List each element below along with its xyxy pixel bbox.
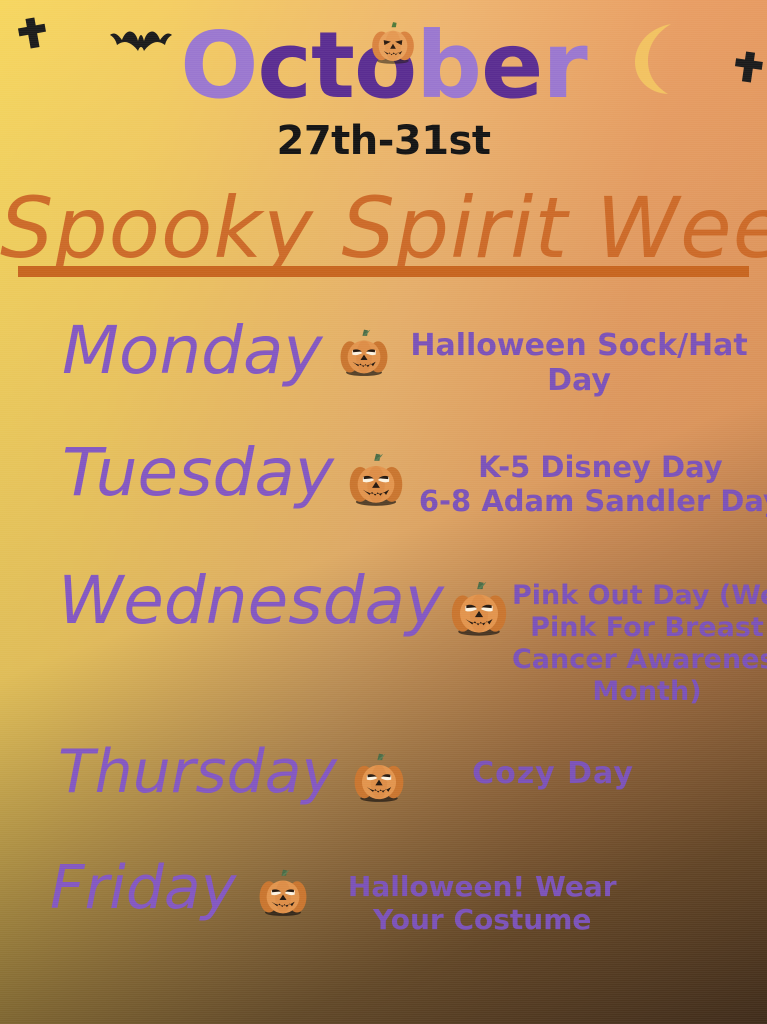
day-description-line: Halloween Sock/Hat	[407, 328, 752, 363]
day-description-line: Month)	[512, 676, 767, 708]
poster-header: October	[0, 0, 767, 180]
day-description-line: Cancer Awareness	[512, 644, 767, 676]
bat-icon	[110, 28, 172, 54]
cross-icon	[742, 52, 755, 83]
pumpkin-icon	[450, 580, 508, 638]
cross-icon	[25, 17, 39, 48]
day-description-tuesday: K-5 Disney Day6-8 Adam Sandler Day	[418, 418, 767, 518]
month-letter-6: r	[542, 16, 586, 116]
spirit-week-poster: October	[0, 0, 767, 1024]
day-description-friday: Halloween! WearYour Costume	[332, 848, 632, 936]
day-description-line: Day	[407, 363, 752, 398]
day-row-monday: MondayHalloween Sock/HatDay	[0, 300, 767, 418]
month-title-wrap: October	[0, 16, 767, 126]
day-description-line: Pink For Breast	[512, 612, 767, 644]
day-description-line: Halloween! Wear	[332, 870, 632, 903]
day-description-line: Cozy Day	[433, 756, 673, 791]
day-description-line: K-5 Disney Day	[418, 450, 767, 484]
pumpkin-icon	[348, 452, 404, 508]
pumpkin-icon	[339, 328, 389, 378]
day-list: MondayHalloween Sock/HatDayTuesdayK-5 Di…	[0, 300, 767, 968]
day-row-thursday: ThursdayCozy Day	[0, 730, 767, 848]
month-letter-5: e	[481, 16, 542, 116]
day-row-wednesday: WednesdayPink Out Day (WearPink For Brea…	[0, 558, 767, 730]
pumpkin-icon	[353, 752, 405, 804]
main-title: Spooky Spirit Week	[0, 179, 767, 277]
day-name-wednesday: Wednesday	[58, 558, 444, 634]
day-row-tuesday: TuesdayK-5 Disney Day6-8 Adam Sandler Da…	[0, 418, 767, 558]
day-name-monday: Monday	[62, 300, 323, 384]
main-title-wrap: Spooky Spirit Week	[0, 180, 767, 280]
day-description-monday: Halloween Sock/HatDay	[407, 300, 752, 399]
title-underline	[18, 266, 749, 277]
day-description-line: 6-8 Adam Sandler Day	[418, 484, 767, 518]
month-letter-0: O	[180, 16, 257, 116]
month-letter-2: t	[311, 16, 354, 116]
day-description-line: Your Costume	[332, 903, 632, 936]
day-description-thursday: Cozy Day	[433, 730, 673, 791]
day-name-friday: Friday	[50, 848, 236, 918]
moon-icon	[625, 22, 695, 96]
month-letter-1: c	[257, 16, 311, 116]
pumpkin-icon	[258, 868, 308, 918]
day-description-line: Pink Out Day (Wear	[512, 580, 767, 612]
pumpkin-icon	[370, 20, 416, 66]
day-name-thursday: Thursday	[58, 730, 337, 802]
day-name-tuesday: Tuesday	[62, 418, 334, 506]
day-row-friday: FridayHalloween! WearYour Costume	[0, 848, 767, 968]
day-description-wednesday: Pink Out Day (WearPink For BreastCancer …	[512, 558, 767, 707]
month-letter-4: b	[416, 16, 481, 116]
date-range: 27th-31st	[0, 118, 767, 164]
